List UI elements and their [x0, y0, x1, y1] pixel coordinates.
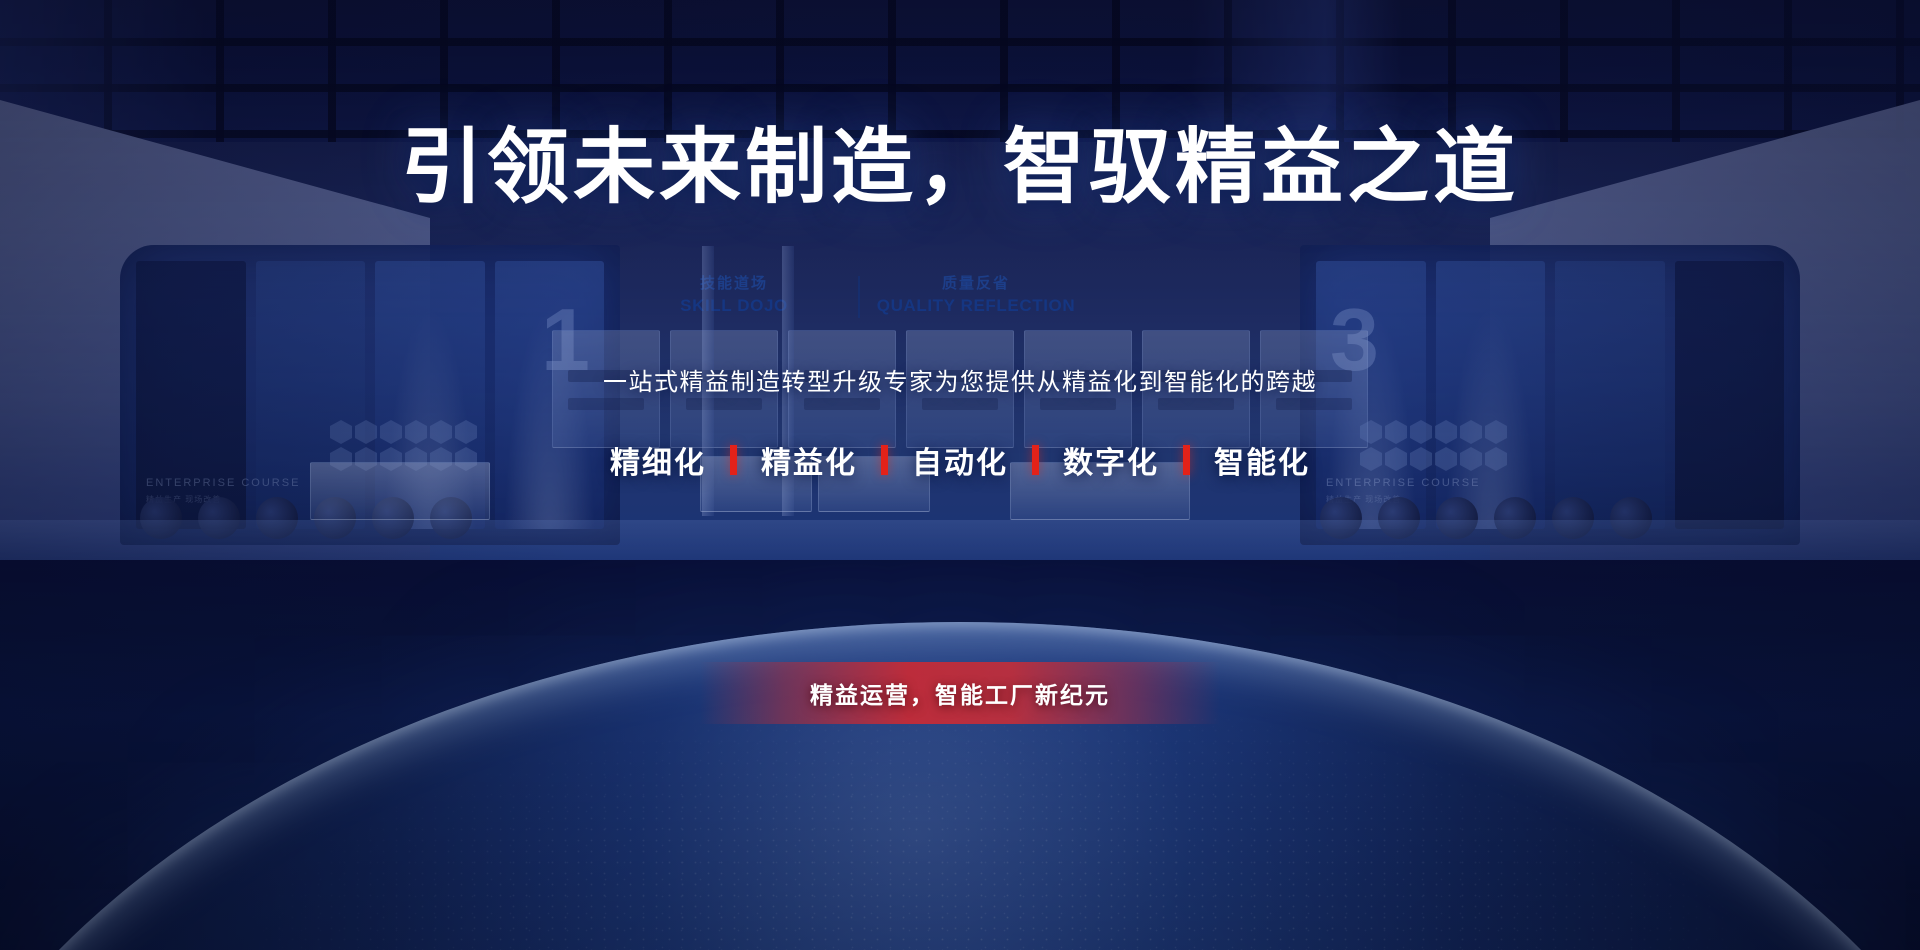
- hero-banner: 1 ENTERPRISE COURSE 精益生产 现场改善 3 ENTER: [0, 0, 1920, 950]
- hero-title: 引领未来制造，智驭精益之道: [0, 124, 1920, 213]
- tagline-badge: 精益运营，智能工厂新纪元: [700, 662, 1220, 724]
- keyword-separator-icon: [881, 445, 888, 475]
- keyword-item-3: 数字化: [1039, 438, 1183, 482]
- keyword-separator-icon: [1183, 445, 1190, 475]
- keyword-item-4: 智能化: [1190, 438, 1334, 482]
- keyword-item-2: 自动化: [888, 438, 1032, 482]
- keyword-item-1: 精益化: [737, 438, 881, 482]
- hero-content: 引领未来制造，智驭精益之道 一站式精益制造转型升级专家为您提供从精益化到智能化的…: [0, 0, 1920, 950]
- keyword-item-0: 精细化: [586, 438, 730, 482]
- tagline-badge-text: 精益运营，智能工厂新纪元: [810, 676, 1110, 710]
- hero-subtitle: 一站式精益制造转型升级专家为您提供从精益化到智能化的跨越: [0, 362, 1920, 397]
- keyword-list: 精细化 精益化 自动化 数字化 智能化: [0, 438, 1920, 482]
- keyword-separator-icon: [1032, 445, 1039, 475]
- keyword-separator-icon: [730, 445, 737, 475]
